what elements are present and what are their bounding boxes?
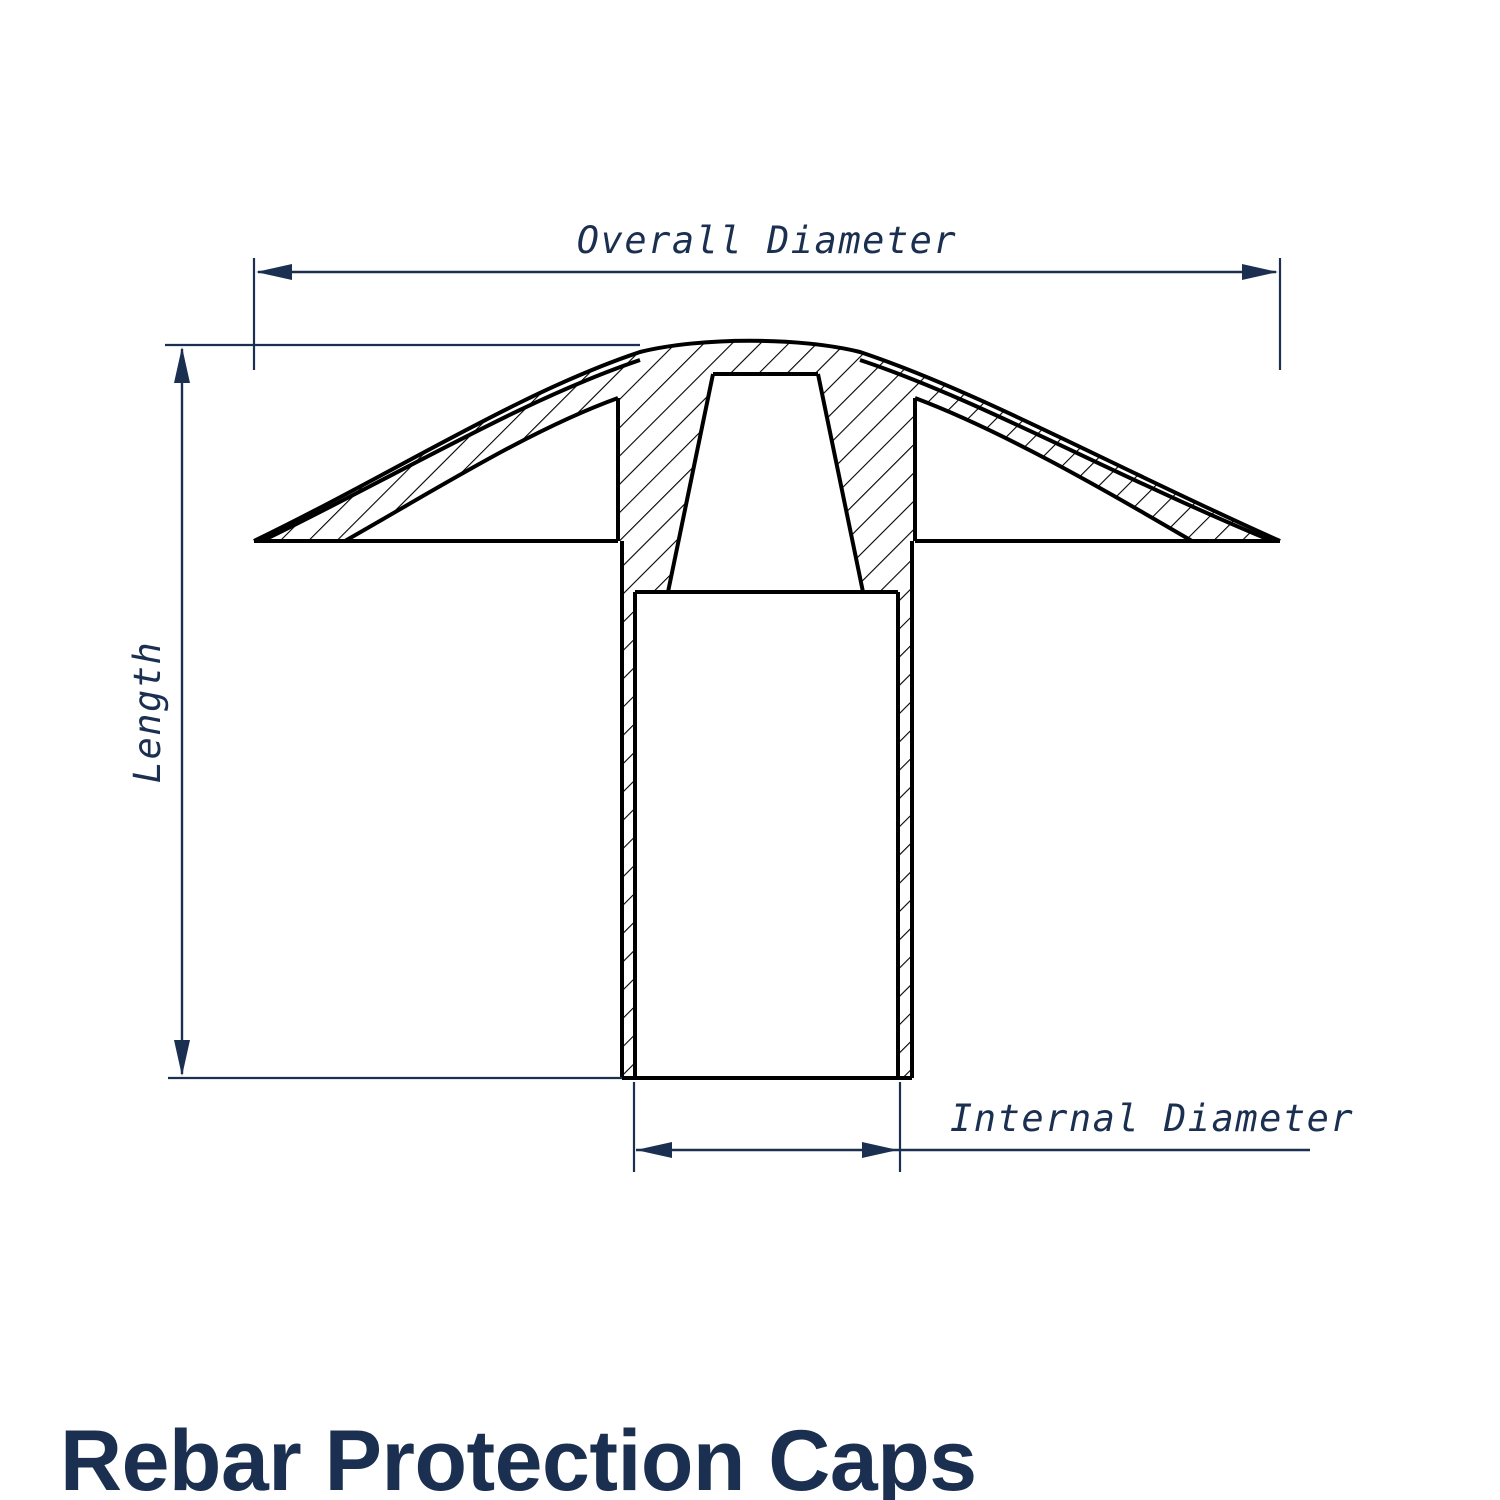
dim-arrowhead-length-top bbox=[174, 347, 190, 383]
dimension-internal-diameter: Internal Diameter bbox=[634, 1082, 1354, 1172]
dimension-label-internal-diameter: Internal Diameter bbox=[950, 1097, 1354, 1140]
dim-arrowhead-internal-right bbox=[862, 1142, 898, 1158]
dim-arrowhead-overall-left bbox=[256, 264, 292, 280]
dimension-label-overall-diameter: Overall Diameter bbox=[577, 219, 957, 262]
dim-arrowhead-overall-right bbox=[1242, 264, 1278, 280]
technical-drawing-canvas: Overall Diameter Length Internal Diamete… bbox=[0, 0, 1500, 1500]
dimension-label-length: Length bbox=[126, 641, 169, 784]
section-hatching bbox=[200, 300, 1350, 1150]
dim-arrowhead-internal-left bbox=[636, 1142, 672, 1158]
far-side-dome-edge-left bbox=[345, 398, 618, 541]
far-side-dome-edge-right bbox=[915, 398, 1192, 541]
rebar-cap-cross-section-svg: Overall Diameter Length Internal Diamete… bbox=[0, 0, 1500, 1500]
dim-arrowhead-length-bottom bbox=[174, 1040, 190, 1076]
page-title: Rebar Protection Caps bbox=[60, 1413, 977, 1500]
hatch-pattern-fill bbox=[200, 300, 1350, 1150]
dimension-length: Length bbox=[126, 345, 640, 1078]
cap-outline-group bbox=[254, 341, 1280, 1078]
